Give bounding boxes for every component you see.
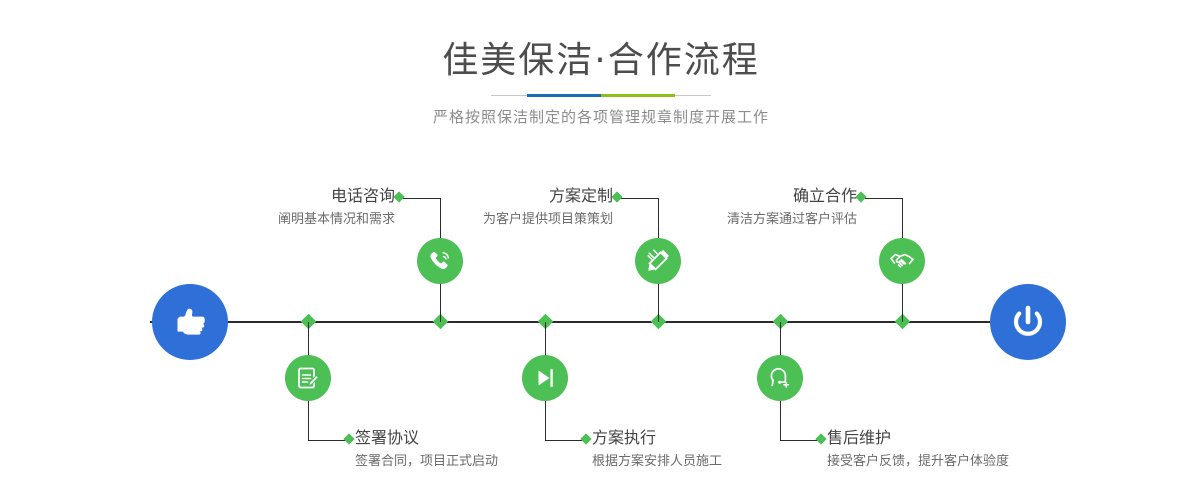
step-label-5: 确立合作 清洁方案通过客户评估 (630, 186, 857, 230)
divider-segment-blue (527, 94, 601, 97)
document-edit-icon (295, 365, 321, 391)
step-title-6: 售后维护 (827, 428, 1102, 448)
divider-segment-green (601, 94, 675, 97)
step-node-4 (522, 355, 568, 401)
step-node-2 (285, 355, 331, 401)
connector-horizontal-5 (862, 198, 903, 199)
step-title-4: 方案执行 (592, 428, 852, 448)
step-label-4: 方案执行 根据方案安排人员施工 (592, 428, 852, 472)
connector-horizontal-6 (780, 440, 821, 441)
timeline-axis (150, 321, 1060, 323)
step-label-6: 售后维护 接受客户反馈，提升客户体验度 (827, 428, 1102, 472)
handshake-icon (888, 247, 916, 275)
play-execute-icon (532, 365, 558, 391)
step-label-2: 签署协议 签署合同，项目正式启动 (355, 428, 615, 472)
step-desc-4: 根据方案安排人员施工 (592, 452, 852, 472)
step-desc-5: 清洁方案通过客户评估 (630, 210, 857, 230)
step-node-5 (879, 238, 925, 284)
power-icon (1005, 299, 1051, 345)
step-desc-6: 接受客户反馈，提升客户体验度 (827, 452, 1102, 472)
step-title-1: 电话咨询 (150, 186, 395, 206)
page-subtitle: 严格按照保洁制定的各项管理规章制度开展工作 (0, 106, 1202, 127)
step-desc-3: 为客户提供项目策策划 (380, 210, 613, 230)
timeline-start-node (152, 284, 228, 360)
page-title: 佳美保洁·合作流程 (0, 38, 1202, 84)
step-label-3: 方案定制 为客户提供项目策策划 (380, 186, 613, 230)
connector-horizontal-4 (545, 440, 586, 441)
step-node-3 (635, 238, 681, 284)
phone-call-icon (426, 247, 454, 275)
label-marker-2 (343, 433, 354, 444)
step-node-6 (757, 355, 803, 401)
timeline-end-node (990, 284, 1066, 360)
label-marker-5 (855, 191, 866, 202)
label-marker-3 (611, 191, 622, 202)
step-node-1 (417, 238, 463, 284)
step-label-1: 电话咨询 阐明基本情况和需求 (150, 186, 395, 230)
header: 佳美保洁·合作流程 严格按照保洁制定的各项管理规章制度开展工作 (0, 0, 1202, 150)
process-flow-infographic: 佳美保洁·合作流程 严格按照保洁制定的各项管理规章制度开展工作 (0, 0, 1202, 502)
divider-rule-right (675, 95, 711, 96)
support-agent-icon (767, 365, 793, 391)
step-title-2: 签署协议 (355, 428, 615, 448)
connector-horizontal-2 (308, 440, 349, 441)
step-title-5: 确立合作 (630, 186, 857, 206)
pencil-ruler-icon (644, 247, 672, 275)
pointing-hand-icon (168, 300, 212, 344)
divider-rule-left (491, 95, 527, 96)
step-desc-1: 阐明基本情况和需求 (150, 210, 395, 230)
step-title-3: 方案定制 (380, 186, 613, 206)
title-divider (491, 94, 711, 97)
step-desc-2: 签署合同，项目正式启动 (355, 452, 615, 472)
